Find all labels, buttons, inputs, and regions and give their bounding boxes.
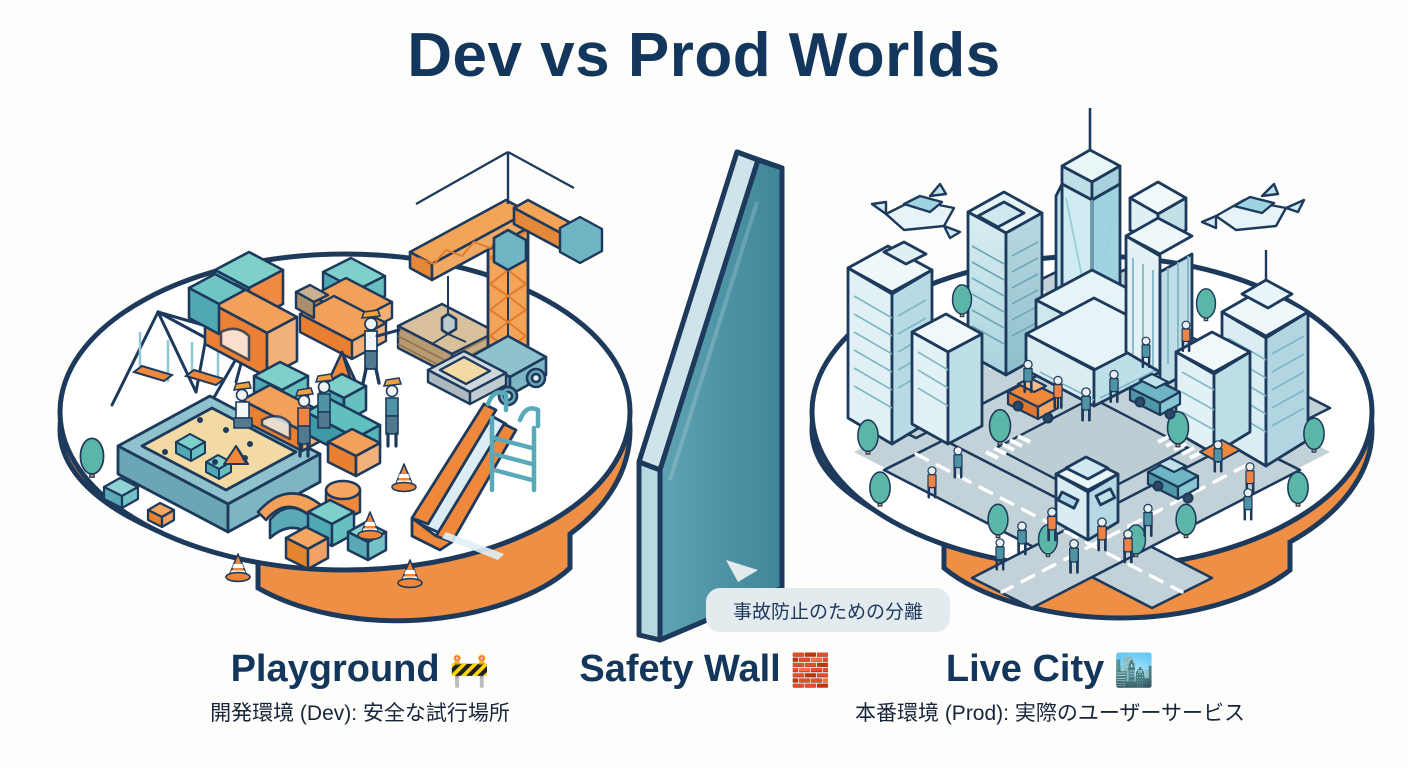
live-city-island (812, 108, 1372, 618)
callout-text: 事故防止のための分離 (733, 597, 923, 624)
caption-playground-label: Playground (231, 648, 440, 691)
playground-island (60, 152, 630, 621)
child-kneeling (234, 382, 252, 428)
safety-wall (639, 152, 782, 640)
flying-car-right (1202, 184, 1304, 230)
caption-live-city: Live City 🏙️ 本番環境 (Prod): 実際のユーザーサービス (730, 648, 1370, 727)
caption-live-city-label: Live City (946, 648, 1104, 691)
callout-text-wrap: 事故防止のための分離 (706, 588, 950, 632)
flying-car-left (872, 184, 960, 238)
caption-live-city-title: Live City 🏙️ (730, 648, 1370, 691)
cityscape-emoji: 🏙️ (1114, 654, 1154, 686)
caption-row: Playground 🚧 開発環境 (Dev): 安全な試行場所 Safety … (0, 648, 1408, 758)
caption-playground-sub: 開発環境 (Dev): 安全な試行場所 (40, 697, 680, 727)
caption-live-city-sub: 本番環境 (Prod): 実際のユーザーサービス (730, 697, 1370, 727)
infographic-canvas: Dev vs Prod Worlds (0, 0, 1408, 768)
